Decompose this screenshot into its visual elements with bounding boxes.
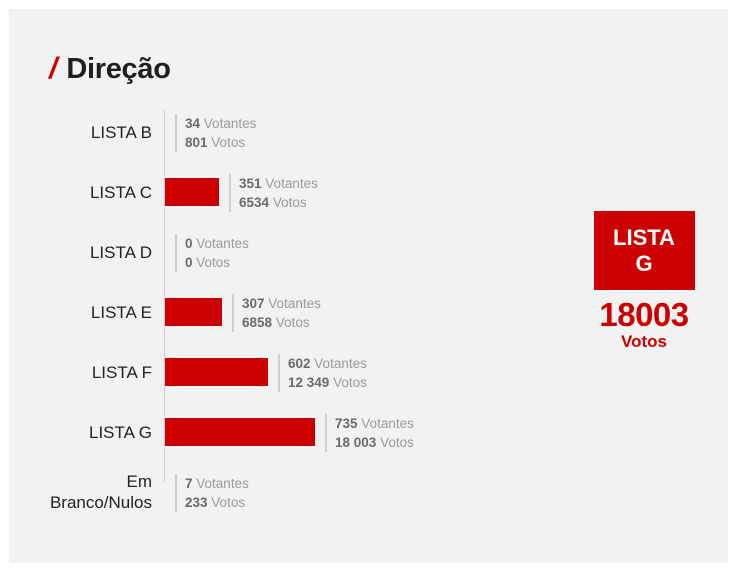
votos-unit: Votos [211,495,245,510]
table-row: LISTA D0 Votantes0 Votos [9,222,569,282]
row-label-line: LISTA E [9,302,152,323]
votantes-stat: 602 Votantes [288,354,367,373]
votantes-value: 7 [185,476,193,491]
results-card: / Direção LISTA B34 Votantes801 VotosLIS… [9,9,728,563]
table-row: LISTA F602 Votantes12 349 Votos [9,342,569,402]
votos-unit: Votos [333,375,367,390]
winner-card: LISTA G 18003 Votos [589,211,699,352]
votos-unit: Votos [380,435,414,450]
page-title-text: Direção [66,55,170,84]
votantes-stat: 7 Votantes [185,474,249,493]
row-stats: 34 Votantes801 Votos [175,114,256,152]
row-stats: 602 Votantes12 349 Votos [278,354,367,392]
row-stats: 7 Votantes233 Votos [175,474,249,512]
votantes-unit: Votantes [268,296,321,311]
votantes-value: 351 [239,176,262,191]
row-label-line: Branco/Nulos [9,492,152,513]
page-title: / Direção [49,54,171,84]
row-label: LISTA D [9,242,152,263]
votos-stat: 233 Votos [185,493,249,512]
votos-unit: Votos [211,135,245,150]
row-label-line: Em [9,471,152,492]
votos-value: 801 [185,135,208,150]
votantes-stat: 351 Votantes [239,174,318,193]
votantes-value: 602 [288,356,311,371]
votantes-stat: 0 Votantes [185,234,249,253]
row-label: LISTA C [9,182,152,203]
votos-value: 6534 [239,195,269,210]
votantes-stat: 307 Votantes [242,294,321,313]
votantes-unit: Votantes [361,416,414,431]
votantes-stat: 735 Votantes [335,414,414,433]
row-stats: 735 Votantes18 003 Votos [325,414,414,452]
votantes-value: 735 [335,416,358,431]
votos-stat: 6534 Votos [239,193,318,212]
votos-value: 6858 [242,315,272,330]
table-row: EmBranco/Nulos7 Votantes233 Votos [9,462,569,522]
votes-bar-chart: LISTA B34 Votantes801 VotosLISTA C351 Vo… [9,102,569,552]
row-label-line: LISTA F [9,362,152,383]
votantes-value: 34 [185,116,200,131]
votos-unit: Votos [273,195,307,210]
row-stats: 0 Votantes0 Votos [175,234,249,272]
votos-value: 12 349 [288,375,329,390]
row-stats: 351 Votantes6534 Votos [229,174,318,212]
votantes-unit: Votantes [265,176,318,191]
bar-segment [165,298,222,326]
table-row: LISTA C351 Votantes6534 Votos [9,162,569,222]
row-label: LISTA E [9,302,152,323]
votos-stat: 6858 Votos [242,313,321,332]
votos-value: 18 003 [335,435,376,450]
votantes-stat: 34 Votantes [185,114,256,133]
winner-name-line2: G [635,251,652,277]
table-row: LISTA G735 Votantes18 003 Votos [9,402,569,462]
row-label: LISTA F [9,362,152,383]
votos-unit: Votos [196,255,230,270]
votos-stat: 0 Votos [185,253,249,272]
votos-unit: Votos [276,315,310,330]
row-label: LISTA G [9,422,152,443]
row-label-line: LISTA B [9,122,152,143]
row-stats: 307 Votantes6858 Votos [232,294,321,332]
table-row: LISTA B34 Votantes801 Votos [9,102,569,162]
table-row: LISTA E307 Votantes6858 Votos [9,282,569,342]
votantes-value: 0 [185,236,193,251]
votos-stat: 12 349 Votos [288,373,367,392]
row-label: LISTA B [9,122,152,143]
bar-segment [165,358,268,386]
votantes-value: 307 [242,296,265,311]
votos-value: 233 [185,495,208,510]
votos-value: 0 [185,255,193,270]
winner-votes-count: 18003 [589,298,699,332]
votos-stat: 801 Votos [185,133,256,152]
row-label-line: LISTA D [9,242,152,263]
votantes-unit: Votantes [196,476,249,491]
votantes-unit: Votantes [314,356,367,371]
row-label-line: LISTA C [9,182,152,203]
winner-name-line1: LISTA [613,225,675,251]
votos-stat: 18 003 Votos [335,433,414,452]
bar-segment [165,418,315,446]
row-label: EmBranco/Nulos [9,471,152,513]
winner-name-box: LISTA G [594,211,695,290]
title-slash-icon: / [49,54,57,84]
bar-segment [165,178,219,206]
votantes-unit: Votantes [204,116,257,131]
winner-votes-label: Votos [589,332,699,352]
row-label-line: LISTA G [9,422,152,443]
votantes-unit: Votantes [196,236,249,251]
